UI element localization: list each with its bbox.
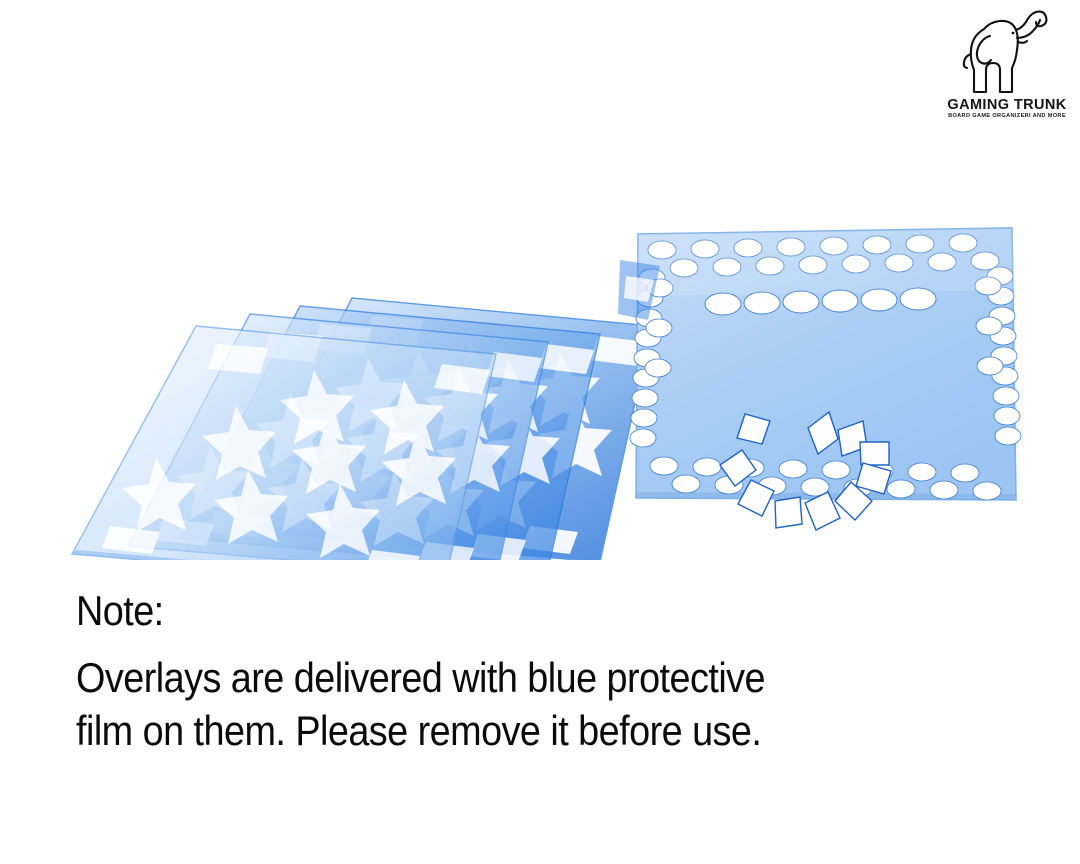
single-overlay xyxy=(630,228,1021,530)
product-photo: GAMING TRUNK GA xyxy=(0,130,1080,560)
brand-wordmark: GAMING TRUNK xyxy=(942,98,1072,113)
brand-logo: GAMING TRUNK BOARD GAME ORGANIZERI AND M… xyxy=(942,8,1072,126)
brand-tagline: BOARD GAME ORGANIZERI AND MORE xyxy=(942,114,1072,120)
overlay-sheet-1: GAMING TRUNK xyxy=(72,326,496,560)
note-heading: Note: xyxy=(76,585,886,638)
overlays-illustration: GAMING TRUNK GA xyxy=(0,130,1080,560)
note-block: Note: Overlays are delivered with blue p… xyxy=(76,585,976,758)
elephant-icon xyxy=(956,8,1060,96)
note-line-2: film on them. Please remove it before us… xyxy=(76,705,886,758)
note-line-1: Overlays are delivered with blue protect… xyxy=(76,652,886,705)
